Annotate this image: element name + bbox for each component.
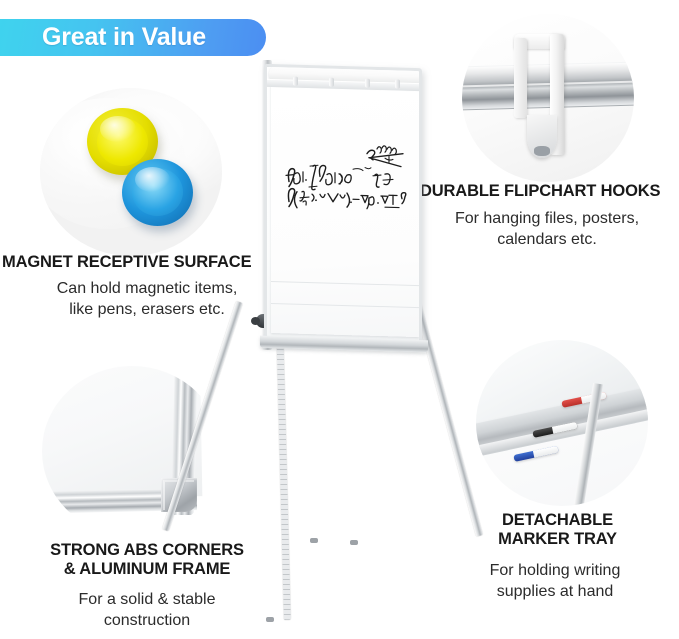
banner-great-in-value: Great in Value (0, 19, 266, 56)
tripod-foot-right (350, 540, 358, 545)
banner-label: Great in Value (0, 23, 206, 52)
tripod-foot-left (310, 538, 318, 543)
blue-magnet-gloss (135, 167, 170, 193)
infographic-canvas: Great in Value MAGNET RECEPTIVE SURFACE … (0, 0, 679, 639)
flipchart-hook-photo (462, 14, 634, 182)
feature-body-detachable-marker-tray: For holding writing supplies at hand (435, 561, 675, 603)
flipchart-hook-2 (329, 78, 334, 87)
yellow-magnet-gloss (100, 116, 135, 142)
magnets-on-whiteboard-photo (40, 88, 222, 256)
flipchart-paper-sheet (271, 83, 419, 337)
aluminum-bar (462, 62, 634, 111)
hook-foot (527, 115, 556, 159)
flipchart-hook-1 (293, 77, 298, 86)
flipchart-hook-4 (395, 79, 400, 88)
tripod-leg-center (276, 320, 291, 620)
tripod-foot-center (266, 617, 274, 622)
tripod-leg-right (414, 303, 483, 537)
magnetic-whiteboard-panel (264, 64, 422, 346)
aluminum-frame-corner-photo (42, 366, 222, 536)
marker-tray-photo (476, 340, 648, 506)
flipchart-hook-3 (365, 79, 370, 88)
flipchart-easel-product-photo (218, 52, 468, 612)
hook-left-arm (514, 38, 528, 119)
blue-magnet (122, 159, 193, 226)
